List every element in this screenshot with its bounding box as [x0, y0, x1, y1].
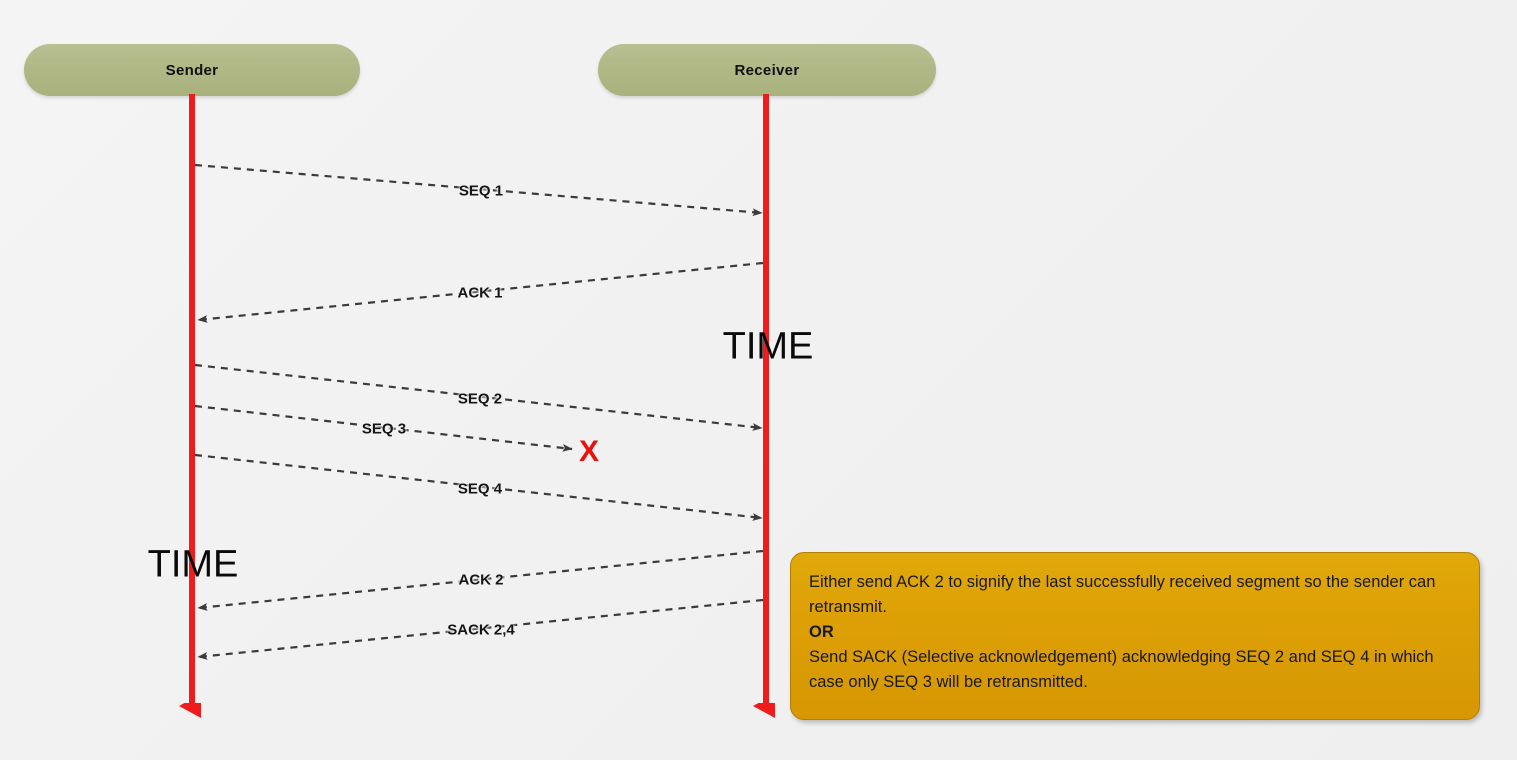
- message-label-ack-1: ACK 1: [457, 285, 502, 302]
- callout-line-2: Send SACK (Selective acknowledgement) ac…: [809, 645, 1463, 695]
- message-label-seq-1: SEQ 1: [459, 183, 503, 200]
- callout-line-1: OR: [809, 620, 1463, 645]
- message-label-sack-24: SACK 2,4: [447, 622, 515, 639]
- message-label-seq-4: SEQ 4: [458, 481, 502, 498]
- packet-drop-x-icon: X: [579, 435, 599, 469]
- explanation-callout: Either send ACK 2 to signify the last su…: [790, 552, 1480, 720]
- message-label-ack-2: ACK 2: [458, 572, 503, 589]
- time-axis-label-receiver: TIME: [723, 326, 814, 369]
- sequence-diagram-canvas: Sender Receiver SEQ 1ACK 1SEQ 2SEQ 3SEQ …: [0, 0, 1517, 760]
- time-axis-label-sender: TIME: [148, 544, 239, 587]
- message-label-seq-2: SEQ 2: [458, 391, 502, 408]
- callout-line-0: Either send ACK 2 to signify the last su…: [809, 570, 1463, 620]
- message-label-seq-3: SEQ 3: [362, 421, 406, 438]
